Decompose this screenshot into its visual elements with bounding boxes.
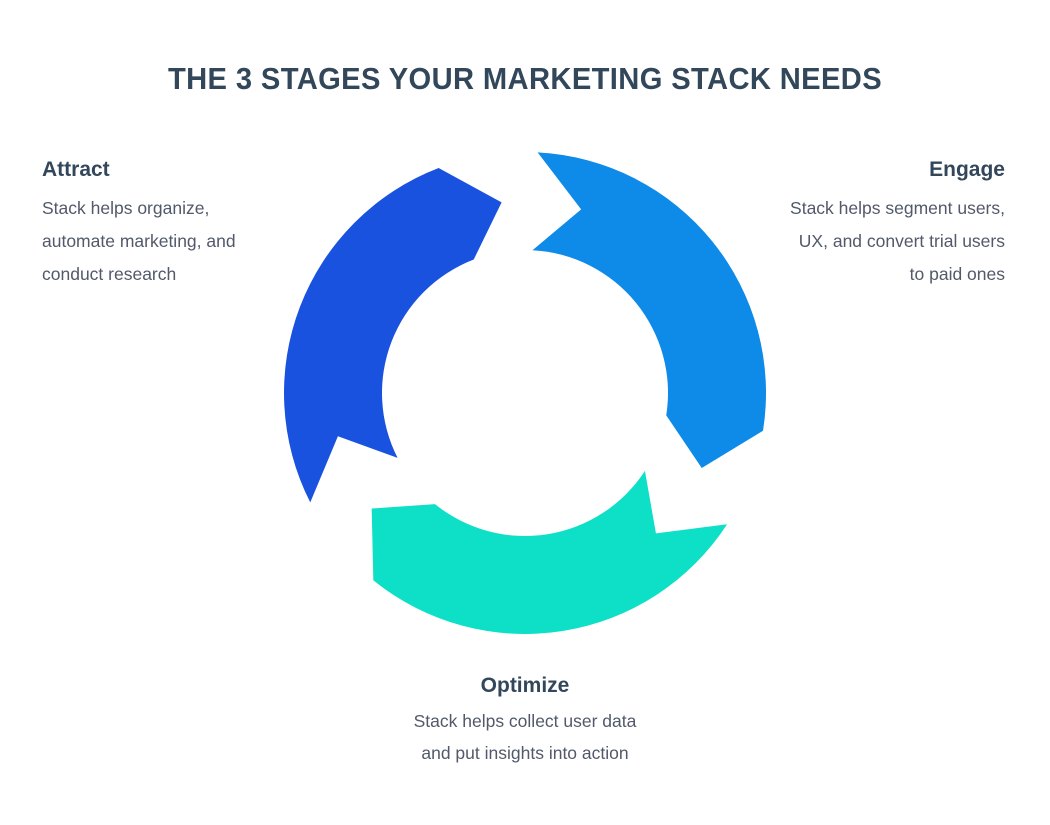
stage-body-attract: Stack helps organize, automate marketing… xyxy=(42,192,342,291)
stage-label-optimize: Optimize Stack helps collect user data a… xyxy=(325,674,725,770)
cycle-segments xyxy=(284,152,766,634)
stage-body-engage: Stack helps segment users, UX, and conve… xyxy=(705,192,1005,291)
stage-heading-engage: Engage xyxy=(705,158,1005,181)
stage-label-engage: Engage Stack helps segment users, UX, an… xyxy=(705,158,1005,291)
cycle-segment-optimize xyxy=(372,471,727,634)
stage-label-attract: Attract Stack helps organize, automate m… xyxy=(42,158,342,291)
stage-heading-optimize: Optimize xyxy=(325,674,725,697)
stage-heading-attract: Attract xyxy=(42,158,342,181)
stage-body-optimize: Stack helps collect user data and put in… xyxy=(325,706,725,770)
